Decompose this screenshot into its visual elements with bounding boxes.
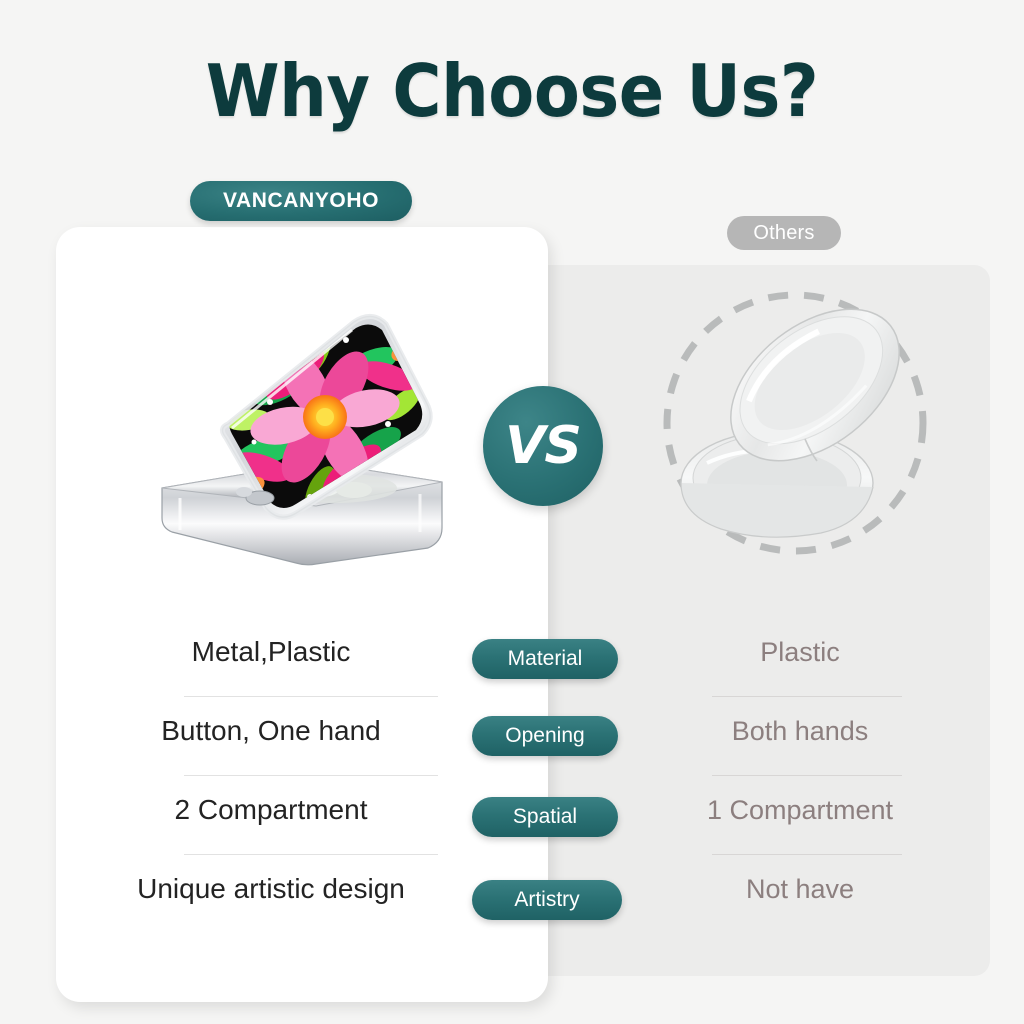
row-divider	[712, 775, 902, 776]
comparison-row: Both hands	[600, 703, 990, 782]
others-value-list: Plastic Both hands 1 Compartment Not hav…	[600, 624, 990, 940]
others-value: Plastic	[600, 624, 990, 680]
row-divider	[712, 696, 902, 697]
comparison-row: Plastic	[600, 624, 990, 703]
attribute-pill-material: Material	[472, 639, 618, 679]
others-value: Not have	[600, 861, 990, 917]
others-badge: Others	[727, 216, 841, 250]
row-divider	[184, 854, 438, 855]
others-product-image	[645, 275, 945, 565]
others-value: Both hands	[600, 703, 990, 759]
comparison-row: Not have	[600, 861, 990, 940]
row-divider	[712, 854, 902, 855]
attribute-pill-opening: Opening	[472, 716, 618, 756]
vs-badge: VS	[483, 386, 603, 506]
row-divider	[184, 775, 438, 776]
plastic-container-icon	[645, 275, 945, 565]
infographic-canvas: Why Choose Us? VANCANYOHO Others	[0, 0, 1024, 1024]
others-value: 1 Compartment	[600, 782, 990, 838]
comparison-row: 1 Compartment	[600, 782, 990, 861]
others-badge-label: Others	[753, 222, 814, 245]
page-title: Why Choose Us?	[36, 48, 988, 134]
row-divider	[184, 696, 438, 697]
attribute-pill-spatial: Spatial	[472, 797, 618, 837]
metal-pill-box-icon	[120, 292, 480, 582]
brand-product-image	[120, 292, 480, 582]
attribute-pill-artistry: Artistry	[472, 880, 622, 920]
brand-badge: VANCANYOHO	[190, 181, 412, 221]
vs-label: VS	[505, 416, 581, 476]
brand-badge-label: VANCANYOHO	[223, 189, 379, 213]
